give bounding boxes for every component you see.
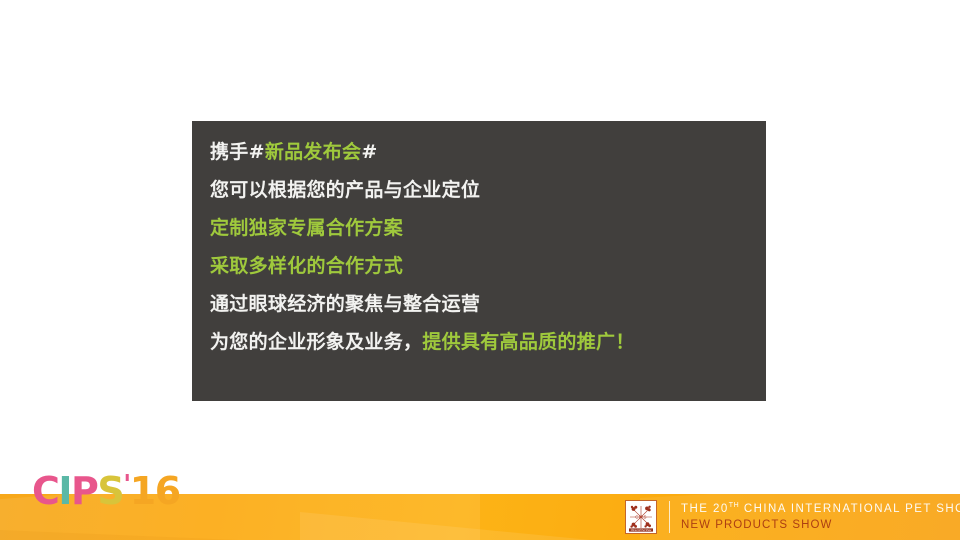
brand-title-ordinal: TH <box>729 502 740 509</box>
brand-divider <box>669 501 670 533</box>
content-segment: 携手# <box>210 141 265 163</box>
band-facet-decoration <box>0 530 420 540</box>
content-segment-highlight: 定制独家专属合作方案 <box>210 217 403 239</box>
wordmark-letter: 6 <box>155 472 180 510</box>
content-line-4: 采取多样化的合作方式 <box>210 257 766 276</box>
content-line-6: 为您的企业形象及业务，提供具有高品质的推广！ <box>210 333 766 352</box>
content-segment: 通过眼球经济的聚焦与整合运营 <box>210 293 480 315</box>
brand-title-prefix: THE 20 <box>681 503 729 515</box>
slide-canvas: 携手#新品发布会# 您可以根据您的产品与企业定位 定制独家专属合作方案 采取多样… <box>0 0 960 540</box>
emblem-label: CIPS <box>635 515 646 520</box>
content-line-1: 携手#新品发布会# <box>210 143 766 162</box>
wordmark-letter: 1 <box>130 472 155 510</box>
content-segment: 您可以根据您的产品与企业定位 <box>210 179 480 201</box>
emblem-caption: China Int'l Pet Show <box>631 529 652 532</box>
brand-subtitle: NEW PRODUCTS SHOW <box>681 520 960 532</box>
content-line-2: 您可以根据您的产品与企业定位 <box>210 181 766 200</box>
cips-wordmark-logo: CIPS'16 <box>32 472 180 510</box>
wordmark-letter: C <box>32 472 58 510</box>
cips-emblem-icon: CIPS China Int'l Pet Show <box>625 500 657 534</box>
brand-title: THE 20TH CHINA INTERNATIONAL PET SHOW <box>681 502 960 515</box>
content-panel: 携手#新品发布会# 您可以根据您的产品与企业定位 定制独家专属合作方案 采取多样… <box>192 121 766 401</box>
brand-text-block: THE 20TH CHINA INTERNATIONAL PET SHOW NE… <box>681 502 960 532</box>
content-segment-highlight: 新品发布会 <box>265 141 362 163</box>
content-segment-highlight: 提供具有高品质的推广！ <box>422 331 634 353</box>
footer-brand: CIPS China Int'l Pet Show THE 20TH CHINA… <box>625 497 960 537</box>
content-line-5: 通过眼球经济的聚焦与整合运营 <box>210 295 766 314</box>
content-segment: # <box>361 141 377 163</box>
content-segment: 为您的企业形象及业务， <box>210 331 422 353</box>
wordmark-letter: I <box>58 472 71 510</box>
content-segment-highlight: 采取多样化的合作方式 <box>210 255 403 277</box>
content-line-3: 定制独家专属合作方案 <box>210 219 766 238</box>
wordmark-letter: P <box>71 472 97 510</box>
brand-title-suffix: CHINA INTERNATIONAL PET SHOW <box>739 503 960 515</box>
wordmark-letter: S <box>97 472 123 510</box>
